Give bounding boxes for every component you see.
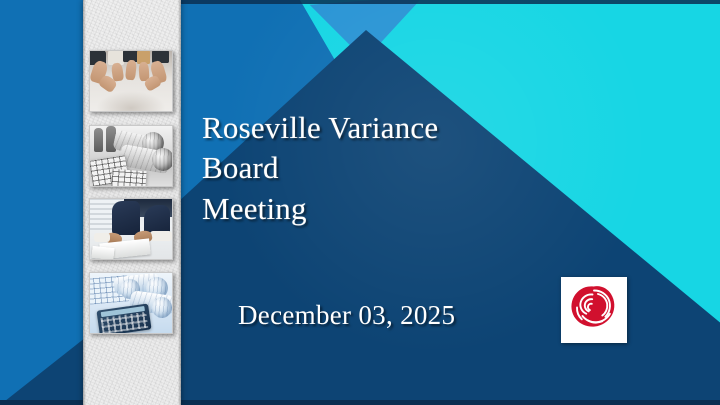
slide-date: December 03, 2025 xyxy=(238,300,455,331)
roseville-rose-logo xyxy=(561,277,627,343)
photo-strip xyxy=(83,0,181,405)
slide-title-line-1: Roseville Variance xyxy=(202,108,532,148)
photo-document-review xyxy=(89,198,173,260)
slide-title: Roseville Variance Board Meeting xyxy=(202,108,532,229)
photo-blueprints-calculator xyxy=(89,272,173,334)
photo-hands-on-plans xyxy=(89,50,173,112)
photo-rolled-blueprints xyxy=(89,125,173,187)
slide-title-line-2: Board xyxy=(202,148,532,188)
photo-strip-right-edge xyxy=(178,0,181,405)
slide-title-line-3: Meeting xyxy=(202,189,532,229)
background-top-bar xyxy=(180,0,720,4)
rose-icon xyxy=(568,285,620,335)
photo-strip-left-edge xyxy=(83,0,86,405)
presentation-slide: Roseville Variance Board Meeting Decembe… xyxy=(0,0,720,405)
